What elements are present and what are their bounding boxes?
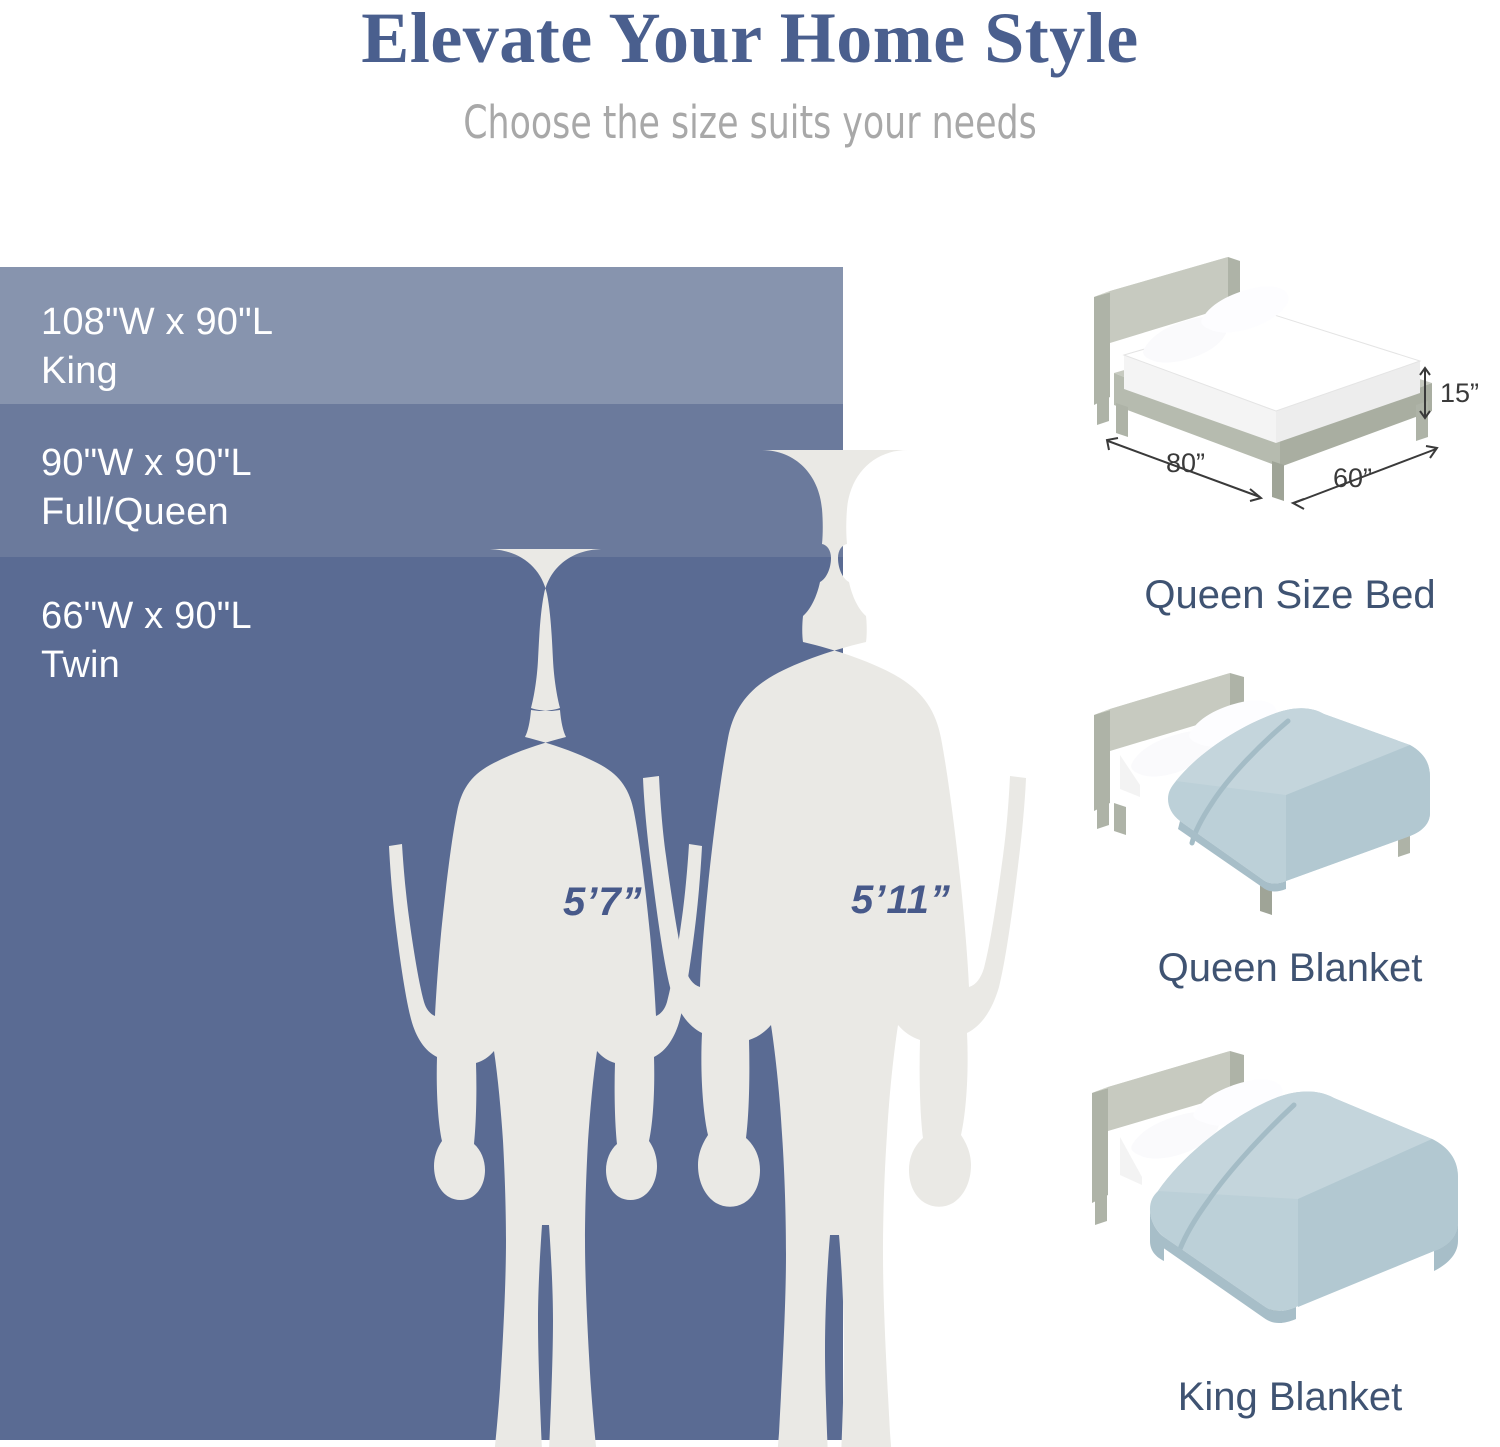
illustration-queen-size-bed: 15” 80” 60” Queen Size Bed: [1080, 255, 1500, 640]
isometric-bed-with-blanket-icon-queen: [1080, 663, 1500, 953]
silhouettes-svg: [0, 0, 1080, 1447]
infographic-root: Elevate Your Home Style Choose the size …: [0, 0, 1500, 1447]
people-scale-reference: 5’7” 5’11”: [0, 0, 1080, 1447]
height-label-woman: 5’7”: [563, 880, 643, 925]
illustration-column: 15” 80” 60” Queen Size Bed: [1080, 255, 1500, 1447]
isometric-bed-with-blanket-icon-king: [1080, 1045, 1500, 1385]
female-silhouette: [389, 549, 702, 1447]
caption-queen-blanket: Queen Blanket: [1080, 946, 1500, 991]
isometric-bed-icon: 15” 80” 60”: [1080, 255, 1500, 575]
dimension-label-15: 15”: [1440, 378, 1479, 408]
illustration-king-blanket: King Blanket: [1080, 1045, 1500, 1435]
illustration-queen-blanket: Queen Blanket: [1080, 663, 1500, 1003]
dimension-label-60: 60”: [1333, 463, 1372, 493]
caption-king-blanket: King Blanket: [1080, 1375, 1500, 1420]
dimension-label-80: 80”: [1166, 448, 1205, 478]
caption-queen-size-bed: Queen Size Bed: [1080, 573, 1500, 618]
height-label-man: 5’11”: [851, 878, 951, 923]
male-silhouette: [643, 450, 1026, 1447]
